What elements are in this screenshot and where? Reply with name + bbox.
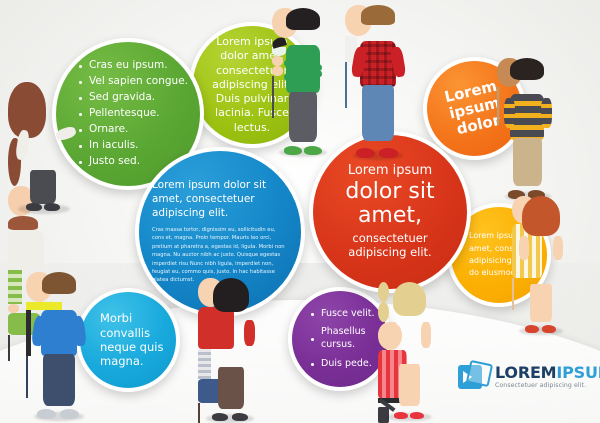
right-arm [55, 125, 77, 142]
lorem-ipsum-logo[interactable]: LOREMIPSUM Consectetuer adipiscing elit. [458, 362, 600, 392]
leg-split [272, 76, 274, 118]
left-shoe [394, 412, 408, 419]
leg-split [512, 278, 514, 310]
list-item: Pellentesque. [78, 107, 190, 121]
blue-jacket [41, 310, 77, 356]
logo-wordmark: LOREMIPSUM [495, 365, 600, 381]
boy-red-plaid-character [345, 5, 411, 157]
right-shoe [379, 148, 398, 158]
leg-split [8, 335, 10, 361]
purple-bullet-list: Fusce velit. Phasellus cursus. Duis pede… [310, 308, 378, 371]
jeans [43, 354, 75, 406]
legs [289, 92, 317, 142]
legs [399, 364, 420, 406]
hair [361, 5, 395, 25]
left-shoe [212, 413, 228, 421]
leg-split [26, 356, 28, 398]
list-item: Duis pede. [310, 358, 378, 371]
right-arm [541, 98, 552, 128]
girl-black-bob-character [198, 278, 262, 420]
right-shoe [60, 409, 79, 419]
right-arm [244, 320, 255, 346]
right-hand [8, 304, 19, 313]
hair [510, 58, 544, 80]
boy-blue-jacket-character [26, 272, 92, 418]
jeans [362, 85, 394, 141]
logo-words: LOREMIPSUM Consectetuer adipiscing elit. [495, 365, 600, 390]
left-arm [504, 98, 515, 128]
hair [8, 82, 46, 138]
right-shoe [232, 413, 248, 421]
striped-sweater [510, 94, 544, 140]
hair [522, 196, 560, 236]
right-pigtail [378, 302, 389, 322]
right-arm [421, 322, 431, 348]
leg-split [497, 87, 499, 125]
blue-bubble-body: Cras massa tortor, dignissim eu, sollici… [152, 226, 288, 285]
hair [393, 282, 426, 316]
left-arm [207, 320, 218, 346]
leg-split [198, 403, 200, 423]
boy-green-polo-character [272, 8, 334, 154]
logo-word-lorem: LOREM [495, 363, 556, 382]
right-shoe [542, 325, 556, 333]
left-shoe [26, 203, 42, 211]
infographic-poster: Cras eu ipsum. Vel sapien congue. Sed gr… [0, 0, 600, 423]
right-shoe [410, 412, 424, 419]
green-bullet-list: Cras eu ipsum. Vel sapien congue. Sed gr… [78, 59, 190, 170]
right-hand [272, 56, 283, 66]
left-shoe [284, 146, 302, 155]
logo-tagline: Consectetuer adipiscing elit. [495, 383, 600, 389]
list-item: Vel sapien congue. [78, 75, 190, 89]
red-bubble-line-3: consectetuer adipiscing elit. [327, 232, 453, 260]
zipper [26, 310, 31, 356]
red-bubble-line-2: dolor sit amet, [327, 180, 453, 228]
left-arm [519, 236, 529, 260]
red-bubble-line-1: Lorem ipsum [327, 164, 453, 179]
purple-list-bubble[interactable]: Fusce velit. Phasellus cursus. Duis pede… [288, 287, 392, 391]
right-arm [553, 236, 563, 260]
legs [218, 367, 244, 409]
striped-top [198, 349, 211, 379]
left-hand [272, 66, 283, 76]
list-item: In iaculis. [78, 139, 190, 153]
blue-bubble-heading: Lorem ipsum dolor sit amet, consectetuer… [152, 179, 288, 221]
legs [30, 170, 56, 204]
hair [42, 272, 76, 294]
boy-striped-sweater-character [497, 58, 559, 198]
trousers [513, 138, 542, 186]
right-shoe [44, 203, 60, 211]
left-shoe [525, 325, 539, 333]
hair [213, 278, 249, 312]
jacket [8, 230, 44, 270]
hair-bangs [8, 216, 38, 230]
list-item: Cras eu ipsum. [78, 59, 190, 73]
list-item: Fusce velit. [310, 308, 378, 321]
list-item: Sed gravida. [78, 91, 190, 105]
girl-blonde-pigtails-character [378, 282, 440, 418]
hair [286, 8, 320, 30]
left-arm [388, 322, 398, 348]
list-item: Phasellus cursus. [310, 326, 378, 351]
logo-mark-icon [458, 362, 488, 392]
logo-word-ipsum: IPSUM [556, 363, 600, 382]
leg-split [345, 62, 347, 108]
cyan-bubble-text: Morbi convallis neque quis magna. [80, 311, 176, 369]
striped-shirt [8, 270, 22, 304]
left-shoe [356, 148, 375, 158]
logo-outline-square [466, 360, 493, 387]
character-shadow [386, 413, 432, 421]
right-shoe [304, 146, 322, 155]
girl-green-stripes-character [8, 82, 80, 210]
legs [530, 284, 552, 322]
girl-red-hair-character [512, 196, 570, 332]
left-pigtail [378, 282, 389, 302]
list-item: Ornare. [78, 123, 190, 137]
plaid-shirt [360, 41, 396, 87]
left-shoe [37, 409, 56, 419]
